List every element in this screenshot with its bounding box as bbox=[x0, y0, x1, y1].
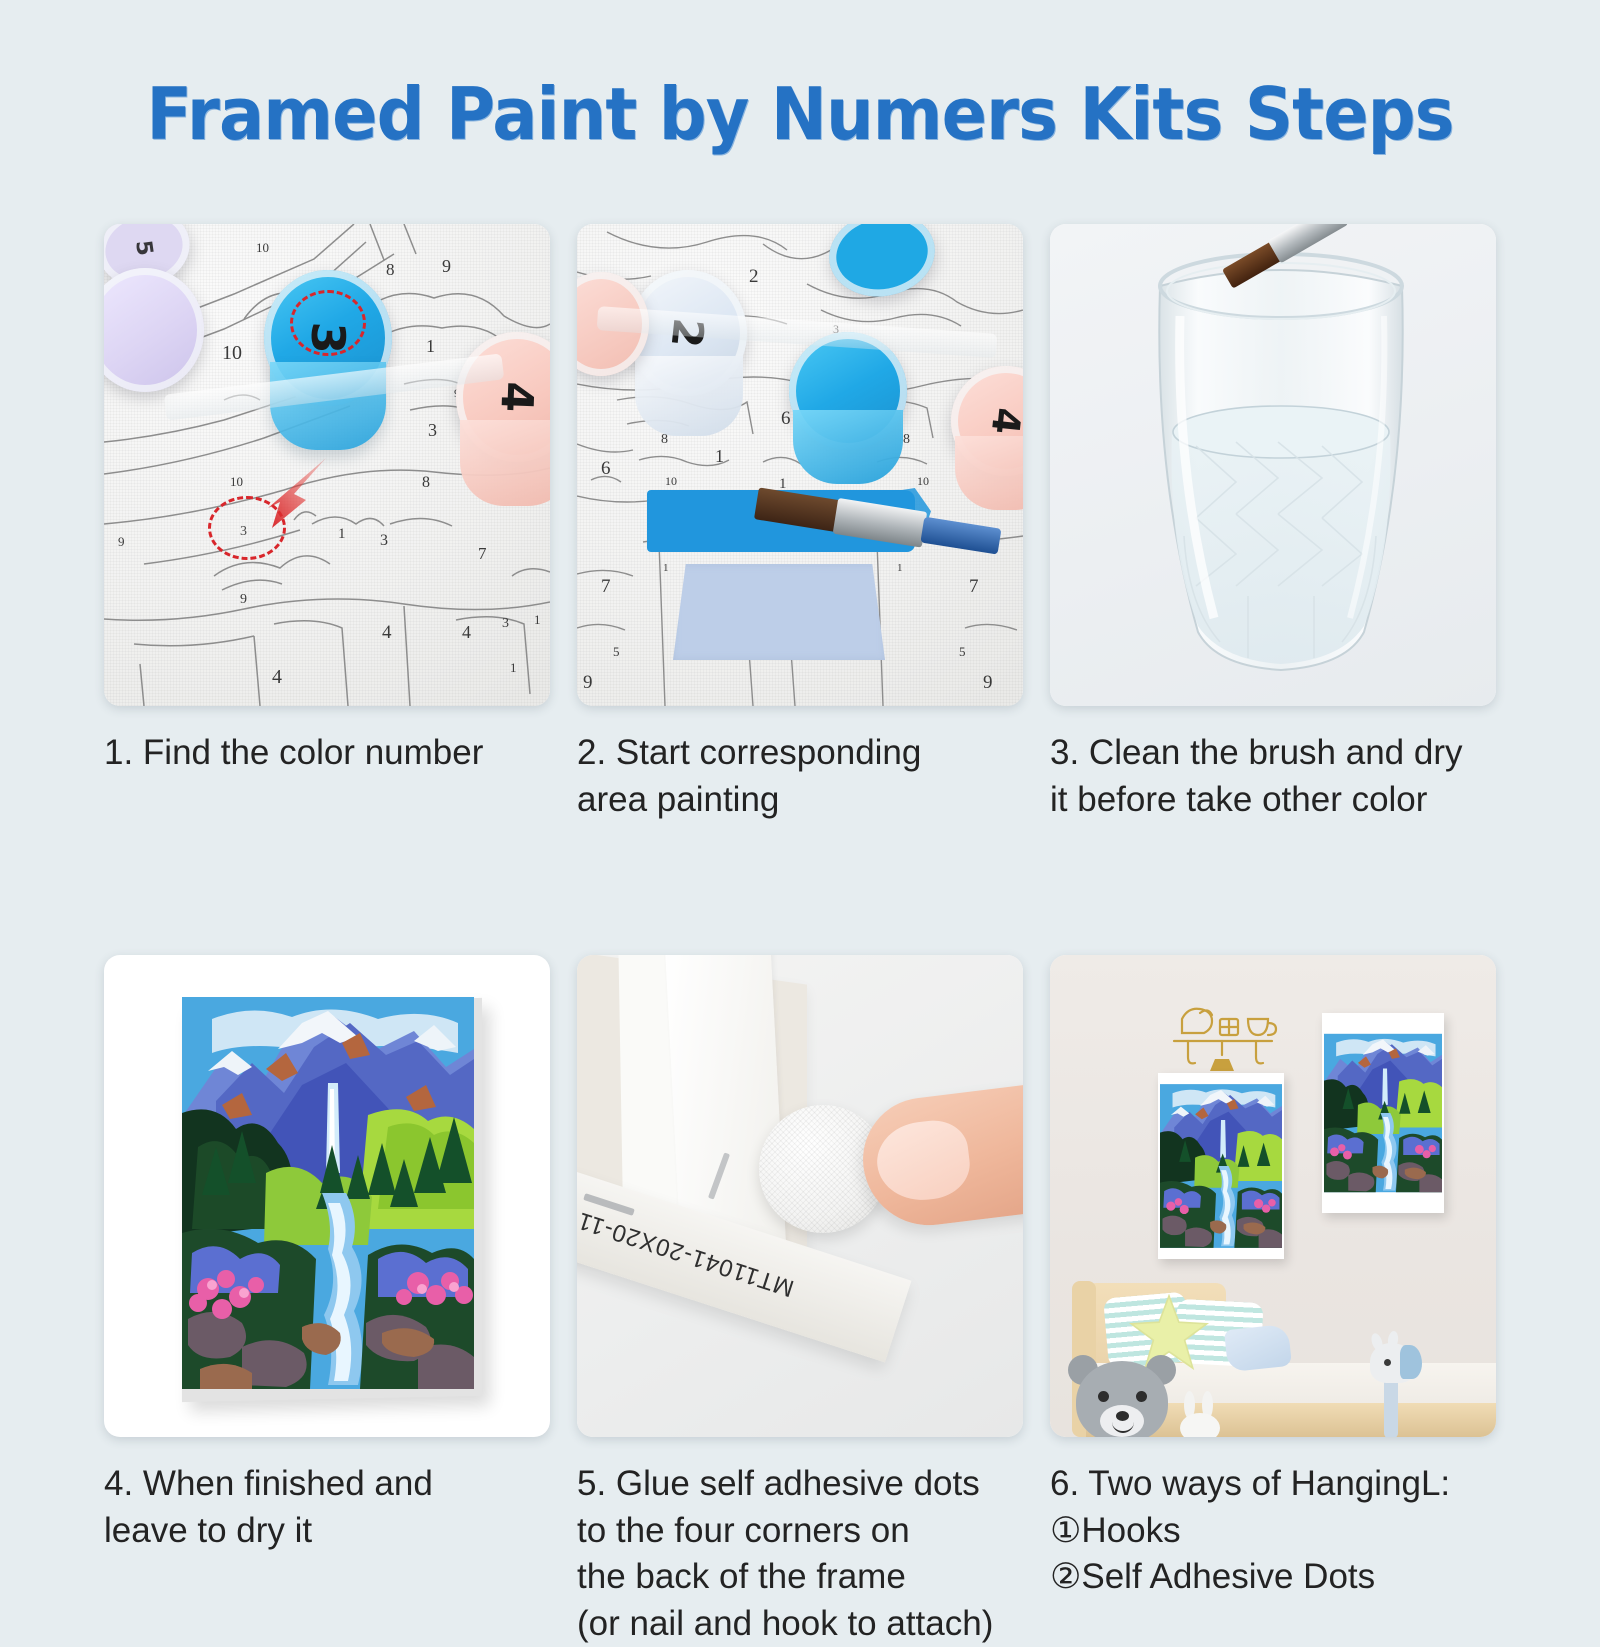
canvas-number: 10 bbox=[222, 342, 242, 365]
step-6-caption-line: 6. Two ways of HangingL: bbox=[1050, 1464, 1450, 1503]
finished-painting-artwork bbox=[182, 997, 474, 1389]
wall-hook-rack-icon bbox=[1168, 1001, 1278, 1077]
canvas-number: 9 bbox=[583, 672, 593, 694]
step-4-image bbox=[104, 955, 550, 1437]
canvas-number: 7 bbox=[478, 544, 487, 564]
blue-cushion bbox=[1224, 1324, 1292, 1372]
step-card-4: 4. When finished and leave to dry it bbox=[104, 955, 550, 1647]
step-card-5: MT11041-20X20-11 5. Glue self adhesive d… bbox=[577, 955, 1023, 1647]
thumbnail bbox=[873, 1117, 974, 1206]
filled-area-light-blue bbox=[673, 564, 885, 660]
canvas-number: 1 bbox=[534, 612, 541, 628]
step-6-image bbox=[1050, 955, 1496, 1437]
bunny-plush bbox=[1178, 1401, 1222, 1437]
step-3-image bbox=[1050, 224, 1496, 706]
bunny-head bbox=[1180, 1413, 1220, 1437]
step-6-sub-item-1: ①Hooks bbox=[1050, 1511, 1181, 1550]
step-2-caption: 2. Start corresponding area painting bbox=[577, 730, 1023, 823]
canvas-number: 3 bbox=[428, 420, 437, 441]
infographic-page: Framed Paint by Numers Kits Steps bbox=[0, 0, 1600, 1600]
horse-toy bbox=[1370, 1339, 1430, 1437]
step-card-1: 10 8 9 10 1 9 3 8 10 9 1 3 7 9 4 4 3 1 1… bbox=[104, 224, 550, 823]
canvas-number: 1 bbox=[338, 526, 346, 543]
step-1-caption: 1. Find the color number bbox=[104, 730, 550, 777]
step-1-image: 10 8 9 10 1 9 3 8 10 9 1 3 7 9 4 4 3 1 1… bbox=[104, 224, 550, 706]
canvas-number: 9 bbox=[983, 672, 993, 694]
canvas-number: 3 bbox=[380, 532, 388, 550]
canvas-number: 3 bbox=[502, 616, 509, 632]
canvas-number: 5 bbox=[613, 644, 620, 660]
hung-painting-left bbox=[1158, 1073, 1284, 1259]
canvas-number: 10 bbox=[256, 240, 269, 256]
water-glass bbox=[1136, 246, 1426, 696]
step-card-6: 6. Two ways of HangingL: ①Hooks ②Self Ad… bbox=[1050, 955, 1496, 1647]
canvas-number: 5 bbox=[959, 644, 966, 660]
painting-artwork bbox=[1160, 1075, 1282, 1257]
paint-pot-blue-body bbox=[793, 410, 903, 484]
canvas-number: 8 bbox=[422, 474, 430, 492]
canvas-number: 10 bbox=[665, 474, 677, 489]
painting-artwork bbox=[1324, 1015, 1442, 1211]
step-5-caption: 5. Glue self adhesive dots to the four c… bbox=[577, 1461, 1023, 1647]
canvas-number: 7 bbox=[969, 576, 979, 598]
paint-pot-white-body bbox=[635, 356, 743, 436]
brush-handle bbox=[920, 517, 1001, 555]
page-title: Framed Paint by Numers Kits Steps bbox=[56, 72, 1544, 156]
horse-mane bbox=[1400, 1345, 1422, 1379]
canvas-number: 6 bbox=[781, 408, 791, 430]
canvas-number: 1 bbox=[426, 336, 435, 357]
canvas-number: 1 bbox=[663, 562, 669, 574]
canvas-number: 10 bbox=[230, 474, 243, 490]
canvas-number: 8 bbox=[903, 432, 910, 448]
canvas-number: 10 bbox=[917, 474, 929, 489]
step-5-image: MT11041-20X20-11 bbox=[577, 955, 1023, 1437]
step-6-sub-item-2: ②Self Adhesive Dots bbox=[1050, 1557, 1375, 1596]
hung-painting-right bbox=[1322, 1013, 1444, 1213]
steps-grid: 10 8 9 10 1 9 3 8 10 9 1 3 7 9 4 4 3 1 1… bbox=[104, 224, 1496, 1647]
step-4-caption: 4. When finished and leave to dry it bbox=[104, 1461, 550, 1554]
pot-number-dashed-circle bbox=[290, 290, 366, 356]
step-6-caption: 6. Two ways of HangingL: ①Hooks ②Self Ad… bbox=[1050, 1461, 1496, 1601]
canvas-number: 4 bbox=[382, 622, 392, 644]
canvas-number: 4 bbox=[462, 622, 471, 643]
canvas-number: 1 bbox=[897, 562, 903, 574]
canvas-number: 7 bbox=[601, 576, 611, 598]
paint-pot-pink-body bbox=[460, 420, 550, 506]
step-2-image: 2 10 3 6 8 1 6 8 10 10 1 7 7 5 5 9 9 1 1 bbox=[577, 224, 1023, 706]
canvas-number: 4 bbox=[272, 666, 282, 689]
canvas-number: 6 bbox=[601, 458, 611, 480]
canvas-number: 9 bbox=[240, 592, 247, 608]
horse-stick bbox=[1384, 1375, 1398, 1437]
red-arrow-icon bbox=[254, 452, 334, 542]
canvas-number: 9 bbox=[118, 534, 125, 550]
canvas-number: 1 bbox=[715, 446, 724, 467]
step-card-2: 2 10 3 6 8 1 6 8 10 10 1 7 7 5 5 9 9 1 1 bbox=[577, 224, 1023, 823]
step-card-3: 3. Clean the brush and dry it before tak… bbox=[1050, 224, 1496, 823]
canvas-number: 9 bbox=[442, 256, 451, 277]
step-3-caption: 3. Clean the brush and dry it before tak… bbox=[1050, 730, 1496, 823]
teddy-bear-plush bbox=[1070, 1351, 1176, 1437]
canvas-number: 1 bbox=[510, 660, 517, 676]
